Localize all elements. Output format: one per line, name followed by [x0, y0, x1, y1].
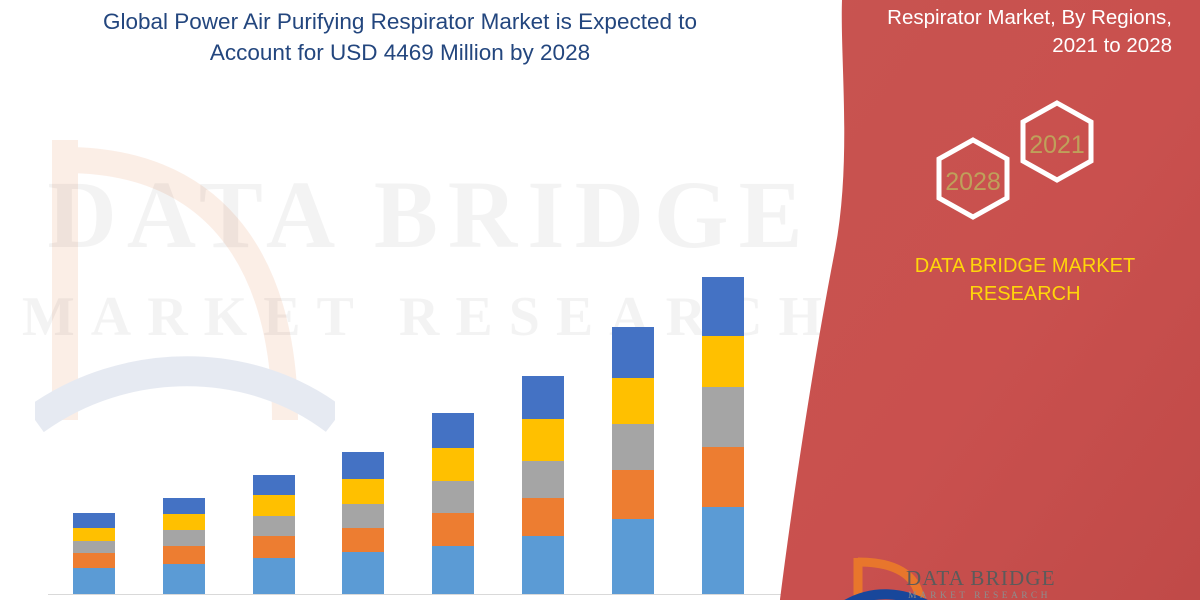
- bar-segment: [163, 498, 205, 514]
- bar-segment: [253, 475, 295, 495]
- bar-segment: [432, 448, 474, 481]
- bar-segment: [612, 424, 654, 470]
- bar-segment: [163, 514, 205, 530]
- bar-segment: [702, 447, 744, 507]
- chart-panel: Global Power Air Purifying Respirator Ma…: [0, 0, 860, 600]
- bar-segment: [163, 530, 205, 547]
- stacked-bar: [432, 413, 474, 594]
- bar-segment: [253, 495, 295, 517]
- footer-logo-tagline: MARKET RESEARCH: [908, 591, 1051, 600]
- stacked-bar: [342, 452, 384, 595]
- bar-segment: [612, 327, 654, 378]
- panel-heading-line-1: Respirator Market, By Regions,: [887, 6, 1172, 29]
- bar-segment: [253, 516, 295, 536]
- hexagon-2028-label: 2028: [945, 168, 1001, 196]
- bar-segment: [342, 552, 384, 594]
- brand-name: DATA BRIDGE MARKET RESEARCH: [860, 252, 1190, 309]
- bar-segment: [702, 507, 744, 594]
- bar-chart-plot-area: 20202021202220232024202520262027 North A…: [40, 110, 780, 485]
- bar-segment: [73, 528, 115, 541]
- bar-segment: [163, 546, 205, 564]
- bar-segment: [432, 481, 474, 513]
- stacked-bar: [522, 376, 564, 594]
- bar-segment: [702, 277, 744, 336]
- bar-segment: [432, 413, 474, 448]
- bar-segment: [163, 564, 205, 594]
- bar-segment: [522, 419, 564, 461]
- infographic-root: DATA BRIDGE MARKET RESEARCH Global Power…: [0, 0, 1200, 600]
- bar-segment: [73, 553, 115, 568]
- bar-segment: [612, 378, 654, 424]
- stacked-bar: [73, 513, 115, 594]
- bar-segment: [342, 452, 384, 480]
- bar-segment: [522, 461, 564, 499]
- stacked-bar: [163, 498, 205, 594]
- brand-line-2: RESEARCH: [969, 283, 1080, 305]
- stacked-bar: [702, 277, 744, 595]
- brand-line-1: DATA BRIDGE MARKET: [915, 255, 1135, 277]
- page-title: Global Power Air Purifying Respirator Ma…: [40, 6, 760, 68]
- panel-heading: Respirator Market, By Regions, 2021 to 2…: [795, 4, 1185, 60]
- bar-segment: [522, 498, 564, 536]
- bar-segment: [342, 479, 384, 504]
- bar-segment: [73, 568, 115, 594]
- page-title-line-2: Account for USD 4469 Million by 2028: [210, 40, 590, 65]
- bar-segment: [253, 558, 295, 594]
- bar-segment: [702, 387, 744, 447]
- bar-segment: [253, 536, 295, 558]
- stacked-bar: [253, 475, 295, 594]
- hexagon-badges: 2021 2028: [925, 95, 1115, 230]
- bar-segment: [73, 541, 115, 553]
- footer-logo-name: DATA BRIDGE: [906, 566, 1056, 591]
- bar-segment: [342, 504, 384, 528]
- bar-segment: [432, 513, 474, 546]
- x-axis-line: [48, 594, 788, 595]
- bar-segment: [432, 546, 474, 594]
- bar-segment: [522, 536, 564, 594]
- page-title-line-1: Global Power Air Purifying Respirator Ma…: [103, 9, 697, 34]
- bar-segment: [342, 528, 384, 552]
- hexagon-2021-label: 2021: [1029, 131, 1085, 159]
- panel-heading-line-2: 2021 to 2028: [1052, 34, 1172, 57]
- stacked-bar: [612, 327, 654, 594]
- bar-segment: [702, 336, 744, 388]
- bar-segment: [73, 513, 115, 528]
- bar-segment: [522, 376, 564, 419]
- bar-segment: [612, 519, 654, 594]
- bar-segment: [612, 470, 654, 519]
